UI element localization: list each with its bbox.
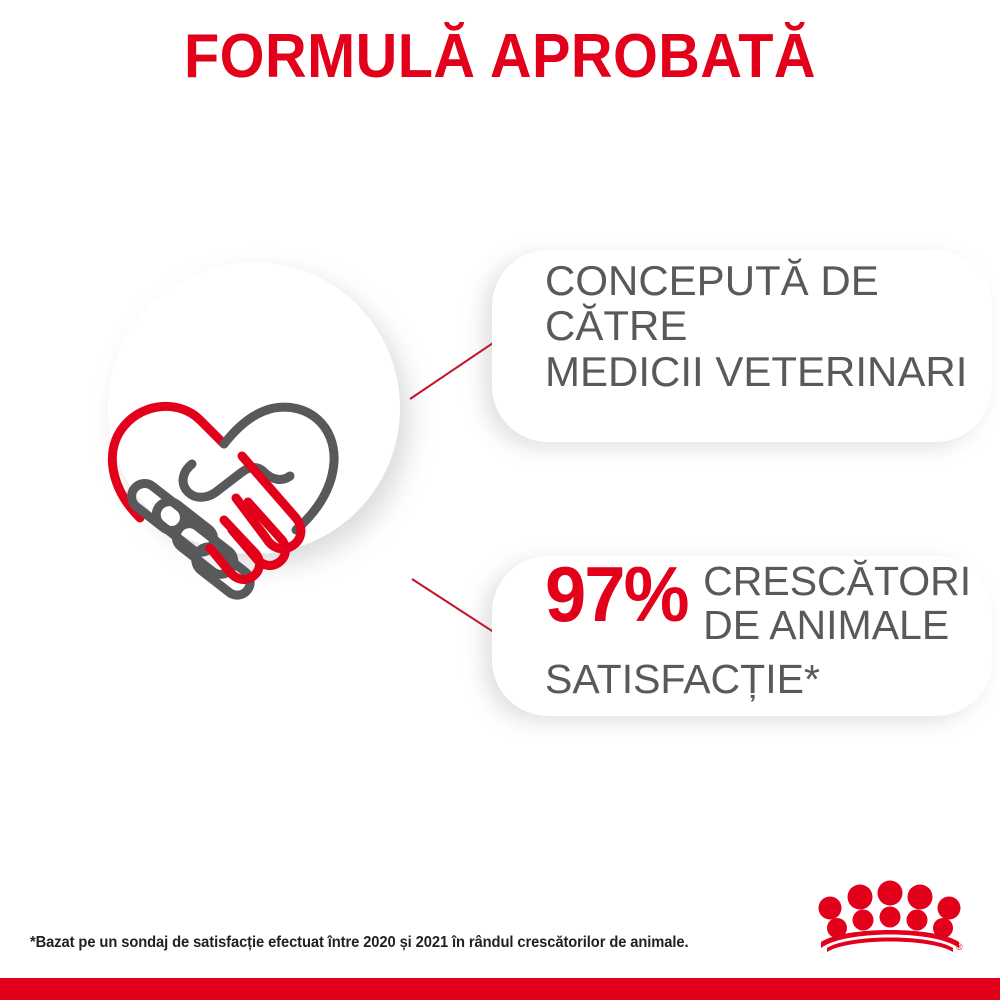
satisfaction-word: SATISFACȚIE* <box>545 658 820 702</box>
stat-value-97: 97% <box>545 556 688 632</box>
vet-designed-text: CONCEPUTĂ DE CĂTRE MEDICII VETERINARI <box>545 258 967 394</box>
poster-root: FORMULĂ APROBATĂ CONCEPUTĂ DE CĂTRE <box>0 0 1000 1000</box>
royal-canin-crown-logo: ® <box>815 880 965 952</box>
connector-line-top <box>409 336 503 400</box>
page-title: FORMULĂ APROBATĂ <box>35 24 965 89</box>
stat-label: CRESCĂTORI DE ANIMALE <box>703 560 971 648</box>
stat-label-line-1: CRESCĂTORI <box>703 560 971 604</box>
bottom-red-bar <box>0 978 1000 1000</box>
vet-designed-line-2: CĂTRE <box>545 303 967 348</box>
registered-mark: ® <box>956 942 963 952</box>
footnote-text: *Bazat pe un sondaj de satisfacție efect… <box>30 934 688 952</box>
vet-designed-line-3: MEDICII VETERINARI <box>545 349 967 394</box>
vet-designed-line-1: CONCEPUTĂ DE <box>545 258 967 303</box>
satisfaction-stat-row: 97% CRESCĂTORI DE ANIMALE <box>545 556 971 648</box>
handshake-heart-icon <box>96 368 356 608</box>
stat-label-line-2: DE ANIMALE <box>703 604 971 648</box>
